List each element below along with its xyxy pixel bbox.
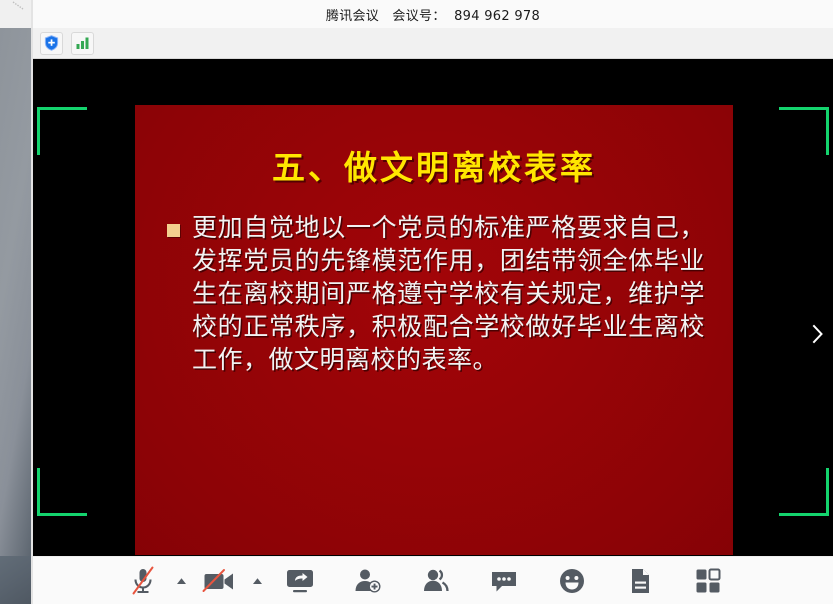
next-panel-chevron-right-icon[interactable] bbox=[809, 321, 827, 347]
emoji-smile-icon bbox=[558, 567, 586, 595]
camera-muted-icon bbox=[202, 567, 236, 595]
shared-screen-stage: 五、做文明离校表率 更加自觉地以一个党员的标准严格要求自己，发挥党员的先锋模范作… bbox=[33, 59, 833, 556]
microphone-muted-icon bbox=[130, 566, 156, 596]
security-shield-button[interactable] bbox=[40, 32, 63, 55]
toolbar-button-group bbox=[114, 557, 752, 604]
grid-layout-icon bbox=[695, 568, 721, 594]
background-window-body bbox=[0, 28, 31, 556]
status-icon-bar bbox=[33, 28, 833, 59]
app-name: 腾讯会议 bbox=[326, 9, 379, 24]
camera-muted-button[interactable] bbox=[190, 557, 248, 604]
chat-button[interactable] bbox=[470, 557, 538, 604]
documents-button[interactable] bbox=[606, 557, 674, 604]
window-titlebar: 腾讯会议 会议号： 894 962 978 bbox=[33, 0, 833, 28]
document-file-icon bbox=[628, 567, 652, 595]
meeting-toolbar bbox=[33, 556, 833, 604]
meeting-id-value: 894 962 978 bbox=[454, 9, 540, 24]
background-window-footer bbox=[0, 556, 31, 604]
slide-title: 五、做文明离校表率 bbox=[135, 105, 733, 189]
tencent-meeting-window: 腾讯会议 会议号： 894 962 978 bbox=[0, 0, 833, 604]
page-title: 腾讯会议 会议号： 894 962 978 bbox=[326, 5, 540, 24]
meeting-id-label: 会议号： bbox=[392, 9, 445, 24]
network-signal-button[interactable] bbox=[71, 32, 94, 55]
presentation-slide: 五、做文明离校表率 更加自觉地以一个党员的标准严格要求自己，发挥党员的先锋模范作… bbox=[135, 105, 733, 555]
slide-body: 更加自觉地以一个党员的标准严格要求自己，发挥党员的先锋模范作用，团结带领全体毕业… bbox=[163, 211, 705, 376]
cursor-pointer-icon bbox=[12, 1, 26, 11]
reactions-button[interactable] bbox=[538, 557, 606, 604]
microphone-muted-button[interactable] bbox=[114, 557, 172, 604]
chat-bubble-icon bbox=[489, 568, 519, 594]
square-bullet-icon bbox=[167, 224, 180, 237]
invite-person-add-icon bbox=[353, 567, 383, 595]
share-screen-button[interactable] bbox=[266, 557, 334, 604]
microphone-options-chevron-up-icon[interactable] bbox=[172, 557, 190, 604]
view-layout-button[interactable] bbox=[674, 557, 742, 604]
camera-options-chevron-up-icon[interactable] bbox=[248, 557, 266, 604]
participants-people-icon bbox=[421, 567, 451, 595]
invite-participant-button[interactable] bbox=[334, 557, 402, 604]
manage-participants-button[interactable] bbox=[402, 557, 470, 604]
security-shield-icon bbox=[44, 35, 59, 51]
share-screen-icon bbox=[285, 567, 315, 595]
network-signal-icon bbox=[75, 36, 90, 50]
slide-body-text: 更加自觉地以一个党员的标准严格要求自己，发挥党员的先锋模范作用，团结带领全体毕业… bbox=[192, 211, 705, 376]
